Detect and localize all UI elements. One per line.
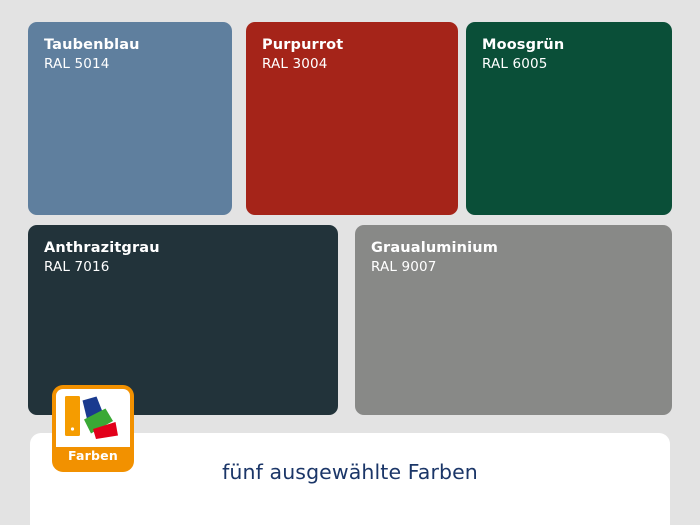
color-swatch-purpurrot[interactable]: Purpurrot RAL 3004 [246,22,458,215]
swatch-code: RAL 6005 [482,56,564,73]
swatch-code: RAL 3004 [262,56,343,73]
swatch-code: RAL 5014 [44,56,140,73]
swatch-name: Purpurrot [262,36,343,55]
fan-deck-icon [63,394,123,442]
color-palette-board: Taubenblau RAL 5014 Purpurrot RAL 3004 M… [0,0,700,525]
color-swatch-taubenblau[interactable]: Taubenblau RAL 5014 [28,22,232,215]
swatch-label-group: Moosgrün RAL 6005 [482,36,564,73]
swatch-code: RAL 7016 [44,259,160,276]
swatch-label-group: Anthrazitgrau RAL 7016 [44,239,160,276]
swatch-label-group: Purpurrot RAL 3004 [262,36,343,73]
color-swatch-moosgruen[interactable]: Moosgrün RAL 6005 [466,22,672,215]
swatch-label-group: Taubenblau RAL 5014 [44,36,140,73]
swatch-name: Moosgrün [482,36,564,55]
swatch-label-group: Graualuminium RAL 9007 [371,239,498,276]
swatch-code: RAL 9007 [371,259,498,276]
logo-badge-label: Farben [52,448,134,463]
swatch-name: Taubenblau [44,36,140,55]
farben-logo-badge[interactable]: Farben [52,385,134,472]
swatch-name: Graualuminium [371,239,498,258]
logo-tile [56,389,130,447]
swatch-name: Anthrazitgrau [44,239,160,258]
color-swatch-graualuminium[interactable]: Graualuminium RAL 9007 [355,225,672,415]
